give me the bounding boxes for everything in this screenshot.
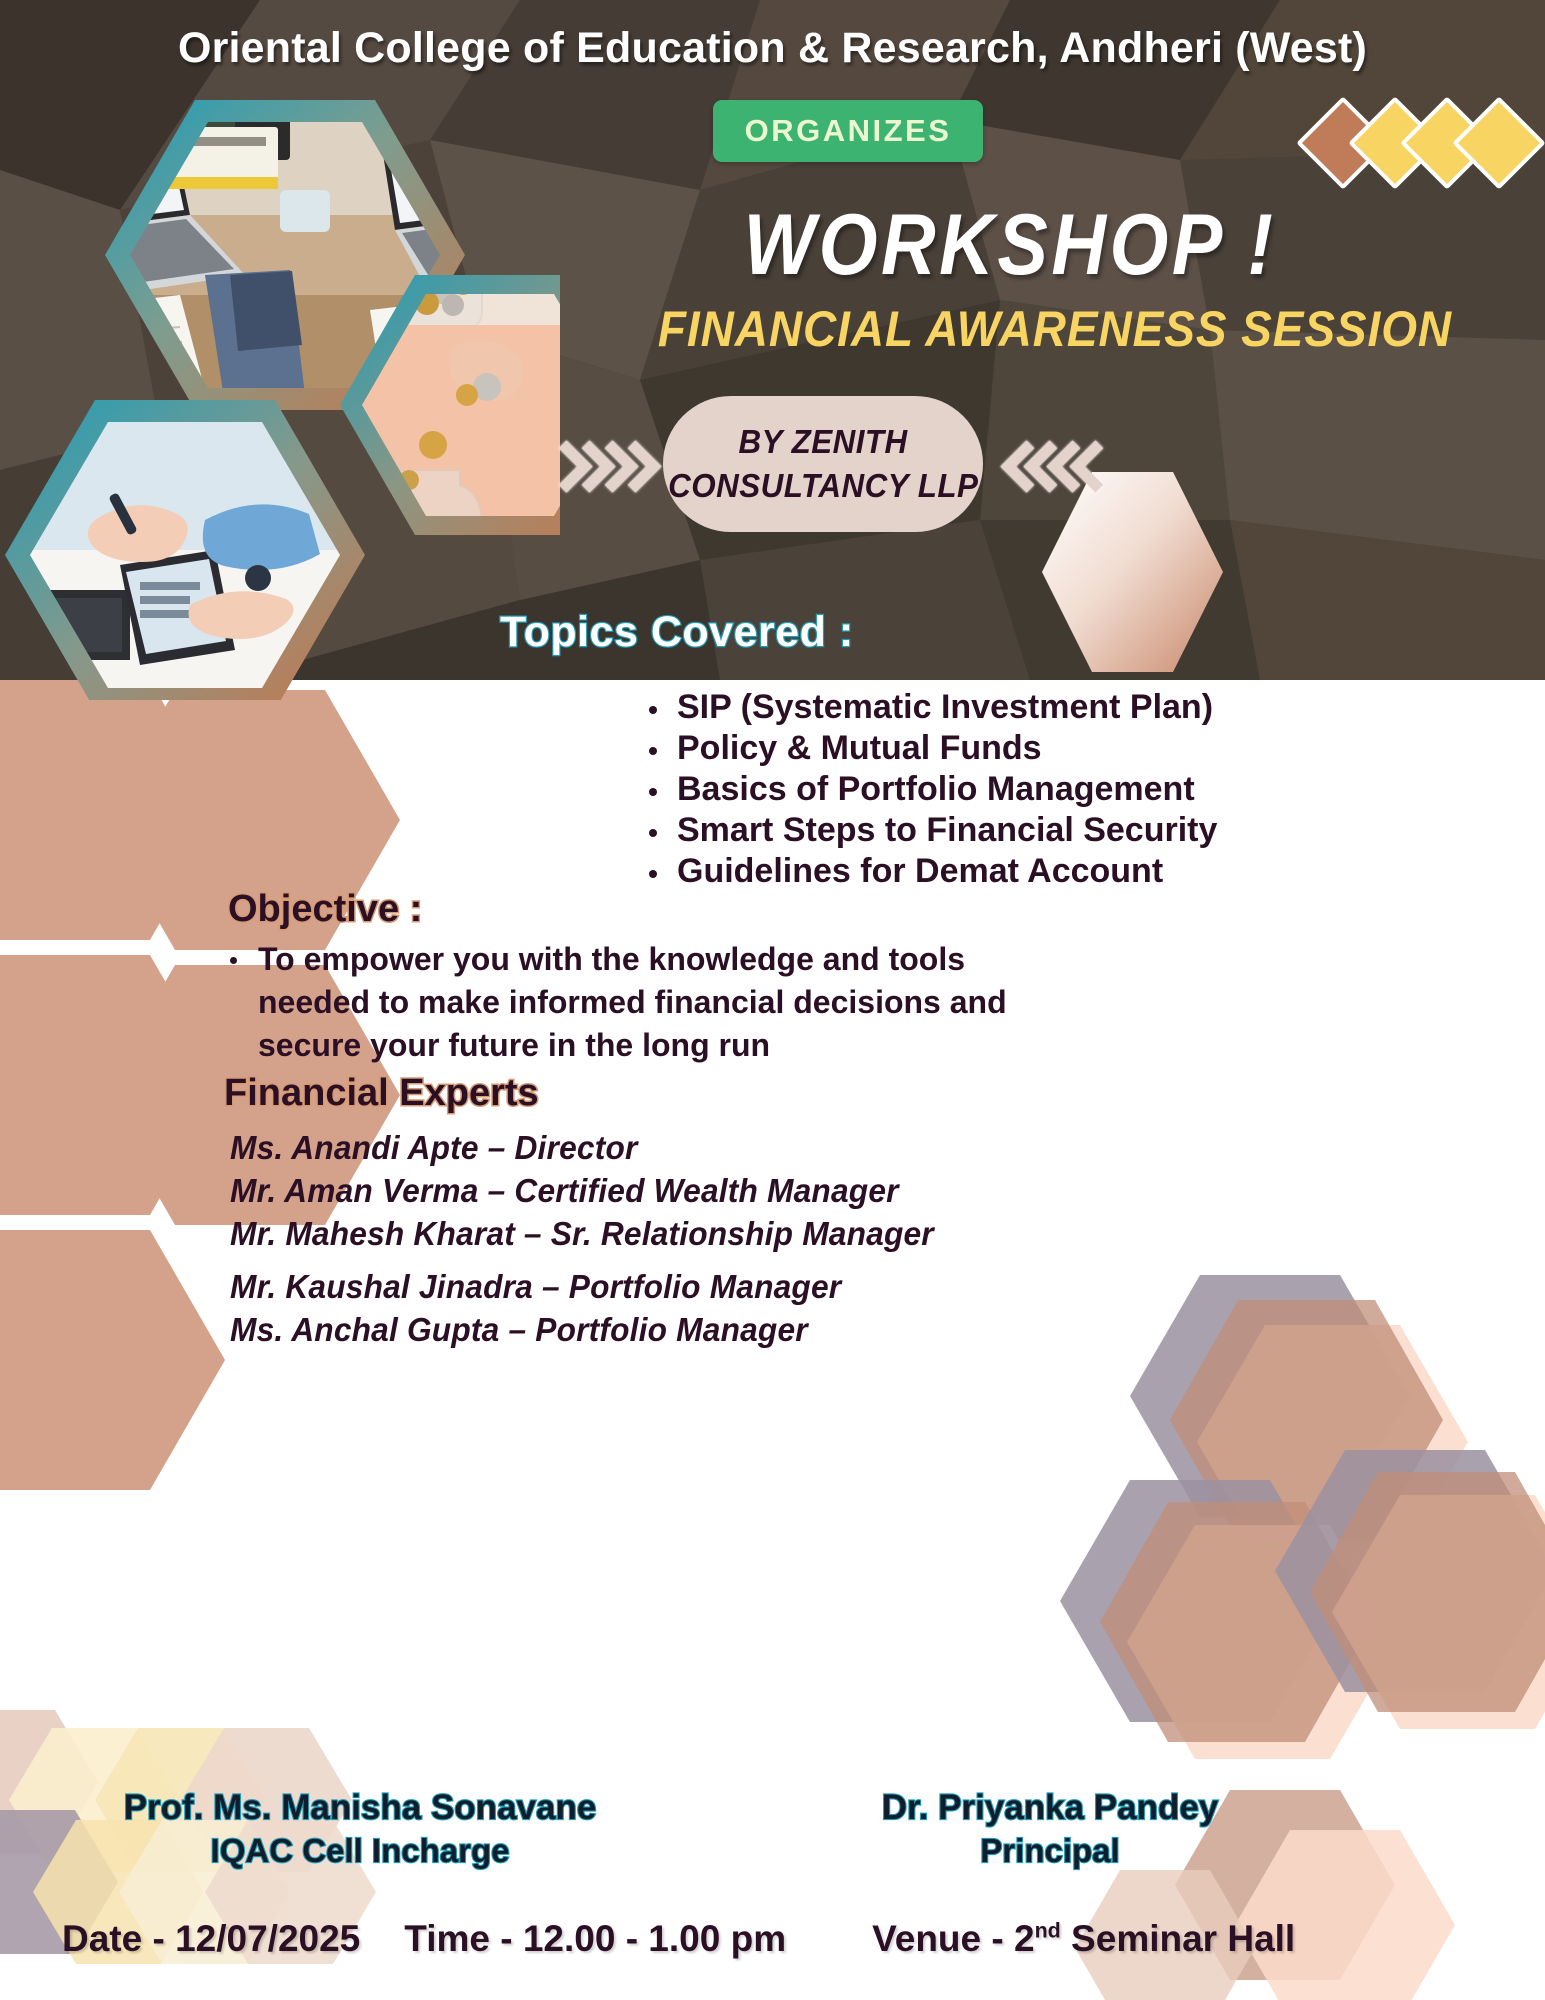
page-title: Oriental College of Education & Research…	[0, 24, 1545, 73]
poster-root: Oriental College of Education & Research…	[0, 0, 1545, 2000]
objective-list: To empower you with the knowledge and to…	[222, 938, 1022, 1067]
event-time: Time - 12.00 - 1.00 pm	[404, 1918, 786, 1960]
list-item: Mr. Mahesh Kharat – Sr. Relationship Man…	[230, 1212, 934, 1255]
presenter-line-1: BY ZENITH	[738, 420, 907, 464]
photo-financial-meeting	[5, 400, 365, 700]
list-item: Basics of Portfolio Management	[645, 769, 1217, 810]
list-item: Ms. Anchal Gupta – Portfolio Manager	[230, 1308, 934, 1351]
signature-left: Prof. Ms. Manisha Sonavane IQAC Cell Inc…	[60, 1786, 660, 1873]
objective-heading: Objective :	[228, 888, 422, 931]
signature-left-role: IQAC Cell Incharge	[60, 1830, 660, 1873]
event-venue-prefix: Venue - 2	[872, 1918, 1034, 1959]
event-venue-ordinal: nd	[1035, 1919, 1061, 1943]
presenter-pill: BY ZENITH CONSULTANCY LLP	[663, 396, 983, 532]
organizes-label: ORGANIZES	[745, 113, 952, 149]
signature-right: Dr. Priyanka Pandey Principal	[700, 1786, 1400, 1873]
presenter-line-2: CONSULTANCY LLP	[668, 464, 978, 508]
list-item: To empower you with the knowledge and to…	[222, 938, 1022, 1067]
experts-list: Ms. Anandi Apte – Director Mr. Aman Verm…	[230, 1126, 963, 1351]
topics-heading: Topics Covered :	[500, 608, 854, 657]
signature-left-name: Prof. Ms. Manisha Sonavane	[60, 1786, 660, 1830]
chevron-left-group	[1008, 446, 1118, 486]
workshop-title: WORKSHOP !	[684, 196, 1335, 295]
list-item: Mr. Aman Verma – Certified Wealth Manage…	[230, 1169, 934, 1212]
list-item: SIP (Systematic Investment Plan)	[645, 687, 1217, 728]
topics-list: SIP (Systematic Investment Plan) Policy …	[645, 687, 1217, 892]
workshop-subtitle: FINANCIAL AWARENESS SESSION	[600, 300, 1511, 358]
experts-heading: Financial Experts	[224, 1072, 539, 1115]
event-date: Date - 12/07/2025	[62, 1918, 360, 1960]
chevron-right-group	[548, 446, 658, 486]
event-venue-suffix: Seminar Hall	[1061, 1918, 1295, 1959]
list-item: Policy & Mutual Funds	[645, 728, 1217, 769]
list-item: Mr. Kaushal Jinadra – Portfolio Manager	[230, 1265, 934, 1308]
gradient-hexagon-decoration	[1040, 470, 1225, 675]
event-info-bar: Date - 12/07/2025 Time - 12.00 - 1.00 pm…	[0, 1918, 1545, 1960]
photo-hexagon-cluster	[0, 80, 560, 700]
signature-right-role: Principal	[700, 1830, 1400, 1873]
list-item: Guidelines for Demat Account	[645, 851, 1217, 892]
signature-right-name: Dr. Priyanka Pandey	[700, 1786, 1400, 1830]
list-item: Ms. Anandi Apte – Director	[230, 1126, 934, 1169]
organizes-badge: ORGANIZES	[713, 100, 983, 162]
event-venue: Venue - 2nd Seminar Hall	[872, 1918, 1295, 1960]
list-item: Smart Steps to Financial Security	[645, 810, 1217, 851]
